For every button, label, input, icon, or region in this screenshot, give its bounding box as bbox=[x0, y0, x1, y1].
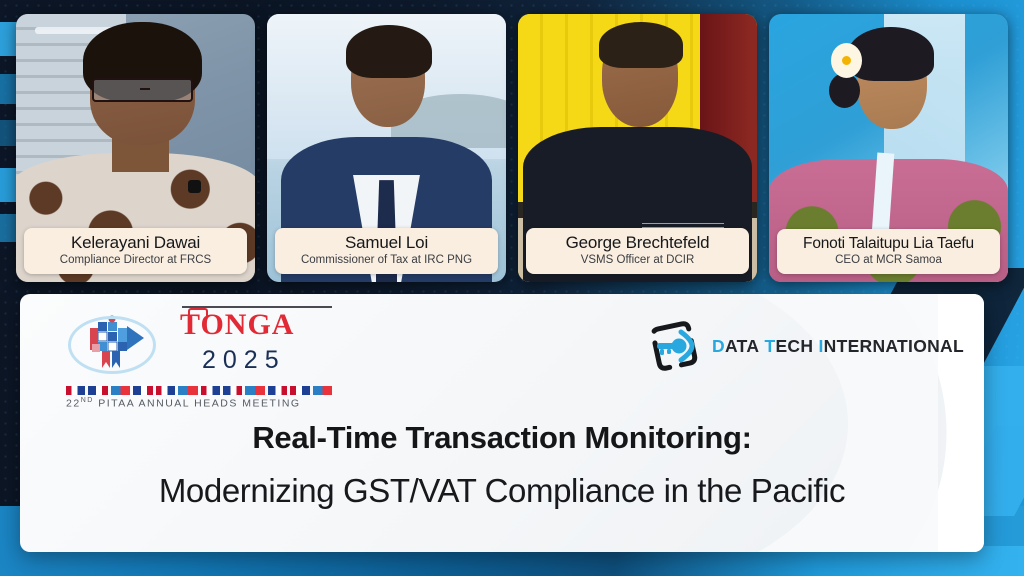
content-panel: TONGA 2025 22ND PITAA ANNUAL HEADS MEETI… bbox=[20, 294, 984, 552]
speaker-name: Fonoti Talaitupu Lia Taefu bbox=[781, 235, 996, 252]
speaker-card[interactable]: George Brechtefeld VSMS Officer at DCIR bbox=[518, 14, 757, 282]
speaker-name-plate: Samuel Loi Commissioner of Tax at IRC PN… bbox=[275, 228, 498, 274]
slide-stage: Kelerayani Dawai Compliance Director at … bbox=[0, 0, 1024, 576]
speaker-name: Kelerayani Dawai bbox=[28, 234, 243, 253]
speaker-role: VSMS Officer at DCIR bbox=[530, 254, 745, 267]
data-tech-international-logo: DATA TECH INTERNATIONAL bbox=[648, 320, 964, 372]
dti-word-data: ATA bbox=[725, 336, 759, 356]
tonga-country-text: TONGA bbox=[180, 310, 294, 340]
dti-letter-t: T bbox=[764, 336, 775, 356]
presentation-title-line2: Modernizing GST/VAT Compliance in the Pa… bbox=[20, 472, 984, 510]
tonga-emblem-icon bbox=[68, 310, 156, 380]
speaker-card[interactable]: Fonoti Talaitupu Lia Taefu CEO at MCR Sa… bbox=[769, 14, 1008, 282]
speaker-card[interactable]: Samuel Loi Commissioner of Tax at IRC PN… bbox=[267, 14, 506, 282]
speaker-card-row: Kelerayani Dawai Compliance Director at … bbox=[16, 14, 1008, 282]
speaker-name-plate: Fonoti Talaitupu Lia Taefu CEO at MCR Sa… bbox=[777, 229, 1000, 274]
dti-key-hexagon-icon bbox=[648, 320, 700, 372]
tonga-event-logo: TONGA 2025 22ND PITAA ANNUAL HEADS MEETI… bbox=[62, 302, 337, 412]
pitaa-meeting-subtitle: 22ND PITAA ANNUAL HEADS MEETING bbox=[66, 397, 301, 410]
speaker-role: CEO at MCR Samoa bbox=[781, 254, 996, 267]
speaker-role: Commissioner of Tax at IRC PNG bbox=[279, 254, 494, 267]
pitaa-ordinal-number: 22 bbox=[66, 398, 81, 410]
pitaa-subtitle-rest: PITAA ANNUAL HEADS MEETING bbox=[94, 398, 301, 410]
tonga-year-text: 2025 bbox=[202, 346, 286, 375]
speaker-name: Samuel Loi bbox=[279, 234, 494, 253]
pitaa-flag-strip bbox=[66, 386, 332, 395]
speaker-name-plate: Kelerayani Dawai Compliance Director at … bbox=[24, 228, 247, 274]
speaker-name: George Brechtefeld bbox=[530, 234, 745, 253]
speaker-card[interactable]: Kelerayani Dawai Compliance Director at … bbox=[16, 14, 255, 282]
dti-wordmark: DATA TECH INTERNATIONAL bbox=[712, 336, 964, 357]
dti-letter-d: D bbox=[712, 336, 725, 356]
dti-word-international: NTERNATIONAL bbox=[824, 336, 964, 356]
pitaa-ordinal-suffix: ND bbox=[81, 397, 94, 404]
presentation-title-line1: Real-Time Transaction Monitoring: bbox=[20, 420, 984, 456]
dti-word-tech: ECH bbox=[775, 336, 813, 356]
speaker-role: Compliance Director at FRCS bbox=[28, 254, 243, 267]
speaker-name-plate: George Brechtefeld VSMS Officer at DCIR bbox=[526, 228, 749, 274]
